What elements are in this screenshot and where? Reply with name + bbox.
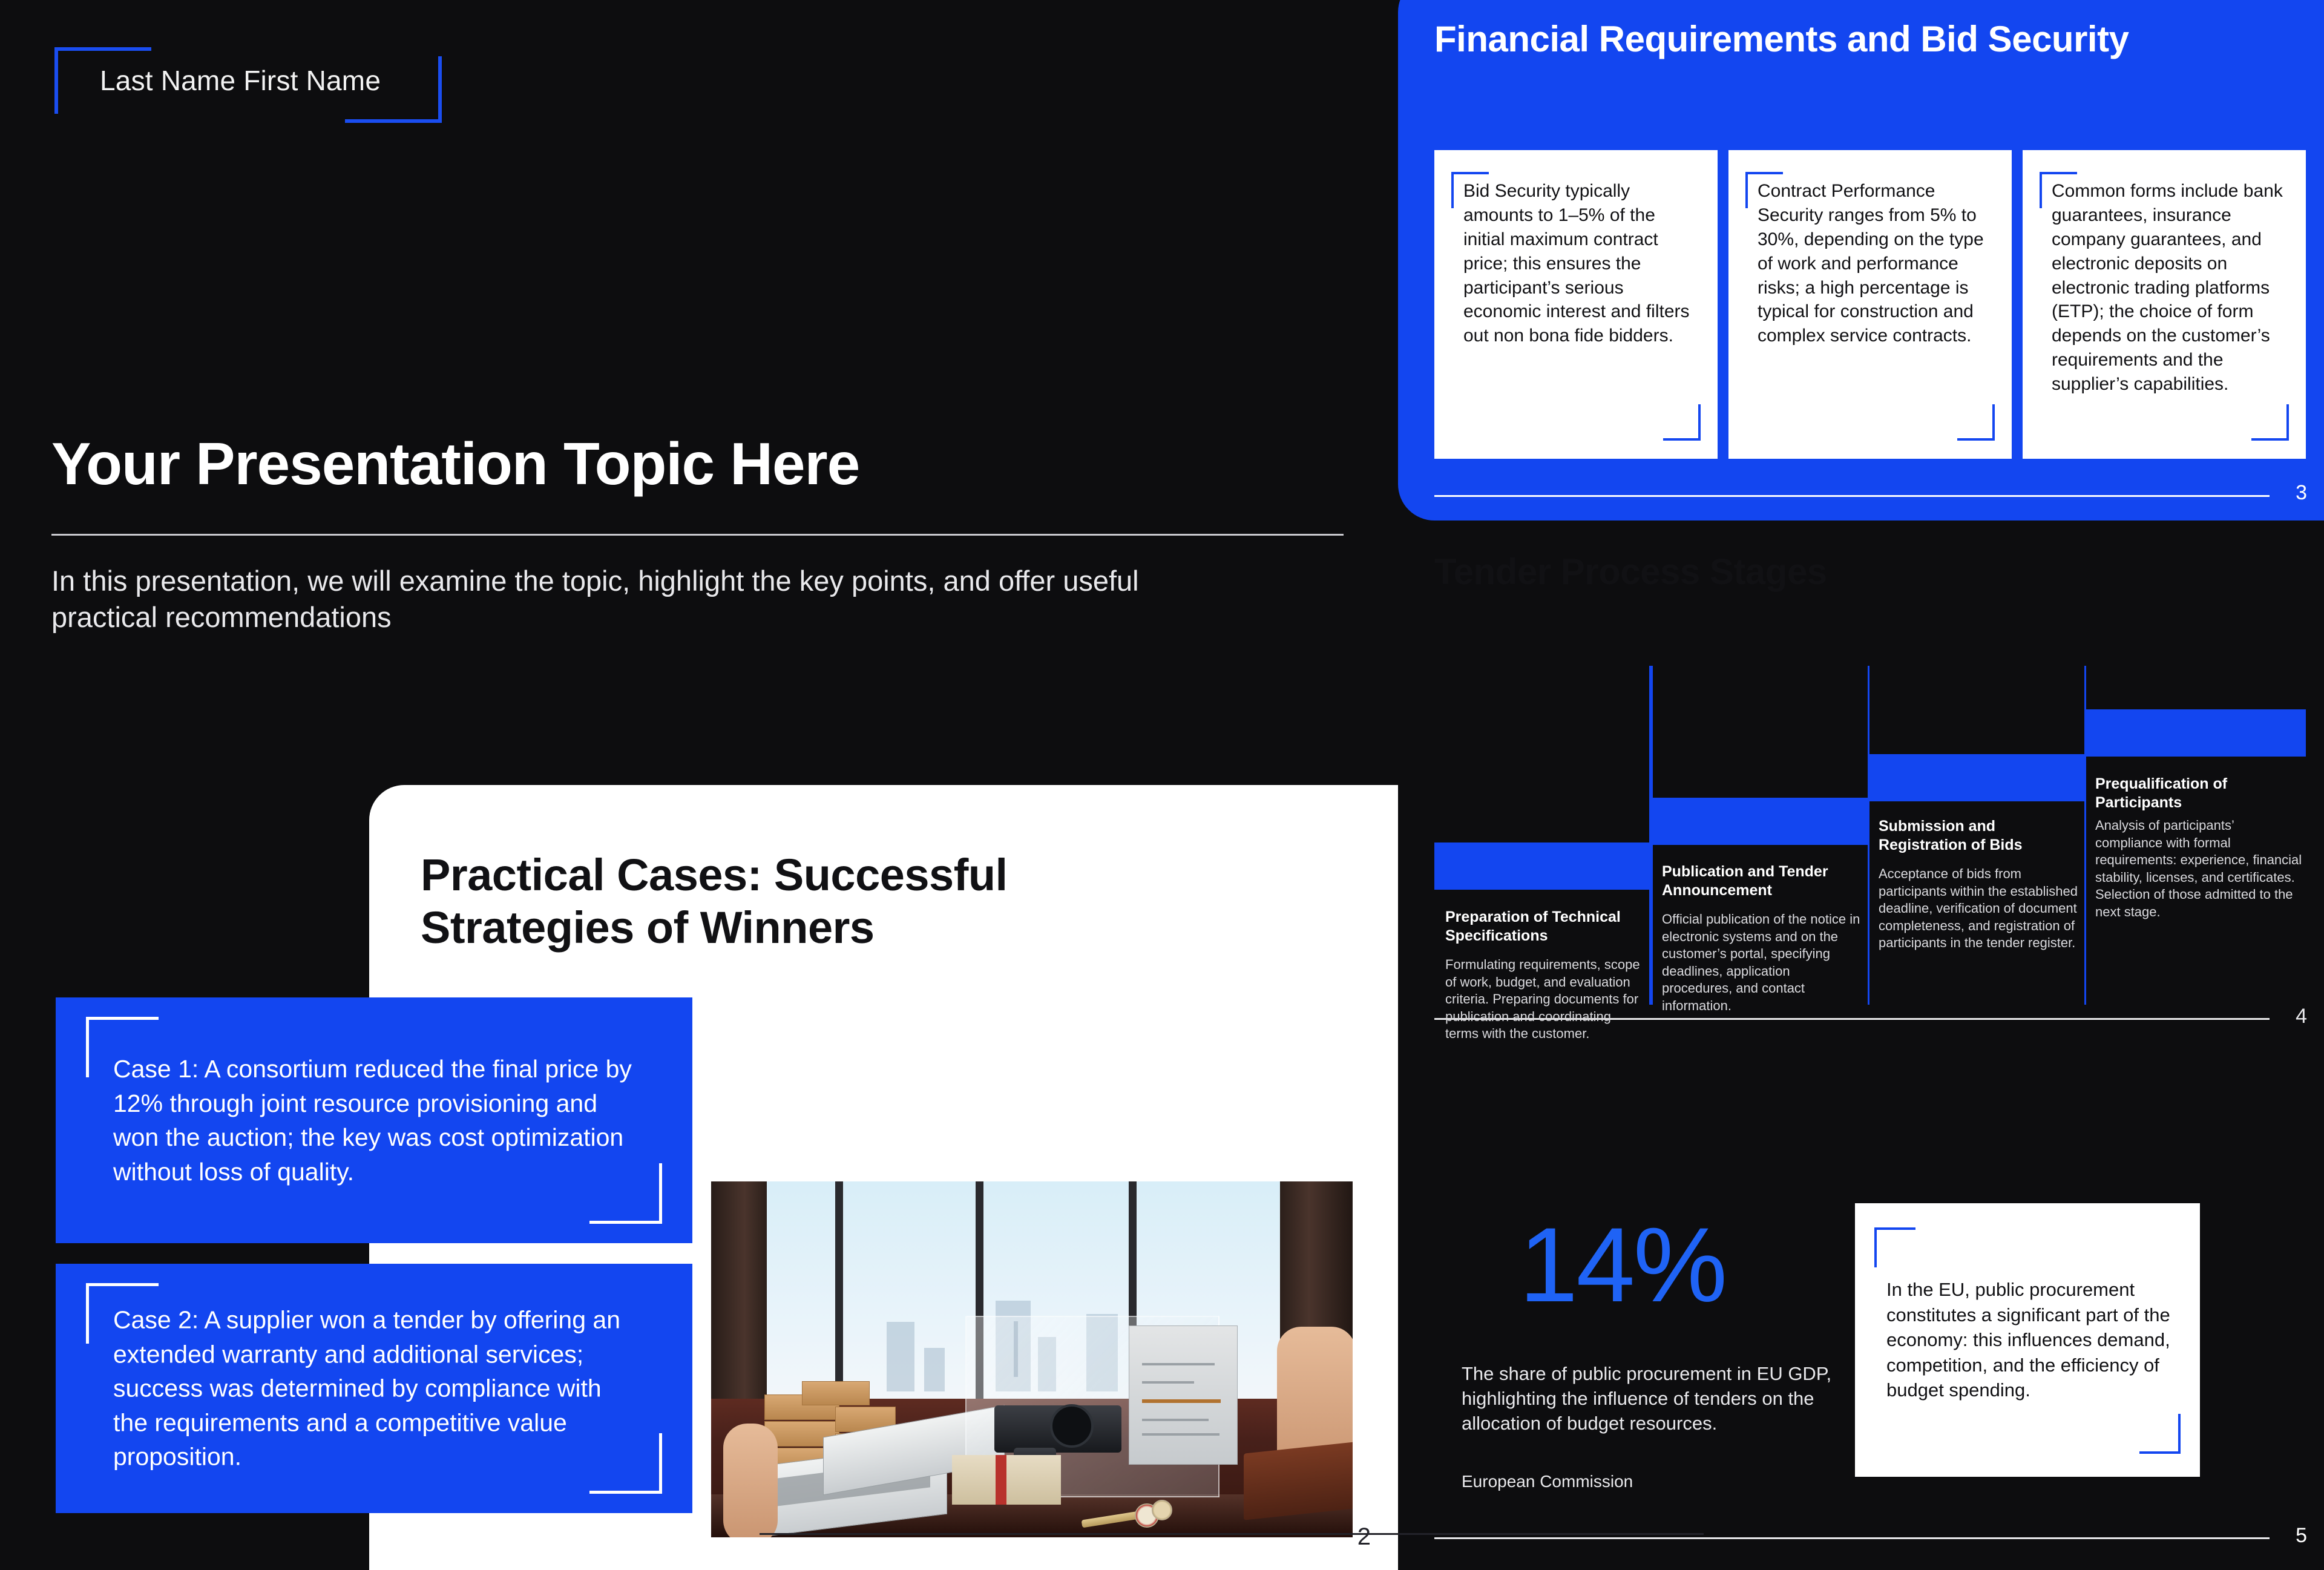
corner-bracket-bottom-icon <box>589 1221 662 1224</box>
corner-bracket-bottom-icon <box>1663 438 1701 441</box>
case-text: Case 1: A consortium reduced the final p… <box>113 1052 638 1189</box>
stage-column-1: Preparation of Technical Specifications … <box>1434 666 1651 1005</box>
presentation-overview: Last Name First Name Your Presentation T… <box>0 0 2324 1570</box>
stage-title: Publication and Tender Announcement <box>1662 862 1856 901</box>
stage-divider <box>1651 666 1653 1005</box>
financial-card-2: Contract Performance Security ranges fro… <box>1728 150 2012 459</box>
corner-bracket-top-icon <box>1451 172 1489 174</box>
financial-card-1: Bid Security typically amounts to 1–5% o… <box>1434 150 1718 459</box>
stage-column-4: Prequalification of Participants Analysi… <box>2084 666 2306 1005</box>
corner-bracket-left-icon <box>2040 172 2042 208</box>
case-text: Case 2: A supplier won a tender by offer… <box>113 1303 638 1474</box>
title-divider <box>51 534 1344 536</box>
corner-bracket-right-icon <box>659 1163 662 1224</box>
stage-body: Analysis of participants’ compliance wit… <box>2095 817 2304 921</box>
stage-column-3: Submission and Registration of Bids Acce… <box>1868 666 2084 1005</box>
corner-bracket-left-icon <box>1745 172 1748 208</box>
stage-title: Submission and Registration of Bids <box>1879 817 2072 855</box>
practical-cases-title: Practical Cases: Successful Strategies o… <box>421 849 1207 954</box>
statistic-value: 14% <box>1519 1204 1725 1326</box>
corner-bracket-bottom-icon <box>1957 438 1995 441</box>
statistic-callout-card: In the EU, public procurement constitute… <box>1855 1203 2200 1477</box>
stage-title: Preparation of Technical Specifications <box>1445 908 1639 946</box>
corner-bracket-right-icon <box>2286 404 2289 441</box>
slide-number: 4 <box>2296 1005 2307 1028</box>
stage-step-bar <box>1651 798 1868 845</box>
corner-bracket-left-icon <box>1451 172 1454 208</box>
cover-subtitle: In this presentation, we will examine th… <box>51 563 1159 636</box>
statistic-source: European Commission <box>1462 1472 1633 1491</box>
author-badge: Last Name First Name <box>54 47 442 123</box>
corner-bracket-top-icon <box>1874 1227 1915 1230</box>
slide-number: 2 <box>1357 1523 1371 1551</box>
stage-divider <box>2084 666 2086 1005</box>
corner-bracket-top-icon <box>86 1017 159 1020</box>
slide-footer-rule <box>1434 495 2270 497</box>
corner-bracket-bottom-icon <box>345 119 442 123</box>
stage-title: Prequalification of Participants <box>2095 775 2301 813</box>
corner-bracket-right-icon <box>659 1433 662 1494</box>
stage-divider <box>1868 666 1869 1005</box>
statistic-description: The share of public procurement in EU GD… <box>1462 1362 1837 1436</box>
corner-bracket-top-icon <box>1745 172 1783 174</box>
financial-card-3: Common forms include bank guarantees, in… <box>2023 150 2306 459</box>
corner-bracket-bottom-icon <box>2139 1451 2181 1454</box>
stage-column-2: Publication and Tender Announcement Offi… <box>1651 666 1868 1005</box>
corner-bracket-bottom-icon <box>2251 438 2289 441</box>
financial-requirement-cards: Bid Security typically amounts to 1–5% o… <box>1434 150 2306 459</box>
page-title: Your Presentation Topic Here <box>51 430 859 498</box>
corner-bracket-right-icon <box>438 56 442 123</box>
corner-bracket-left-icon <box>86 1283 89 1344</box>
corner-bracket-right-icon <box>2178 1414 2181 1454</box>
author-name: Last Name First Name <box>100 64 381 97</box>
financial-card-text: Contract Performance Security ranges fro… <box>1758 179 1990 348</box>
financial-card-text: Common forms include bank guarantees, in… <box>2052 179 2284 396</box>
corner-bracket-top-icon <box>54 47 151 51</box>
cover-slide: Last Name First Name Your Presentation T… <box>0 0 1398 1570</box>
statistic-callout-text: In the EU, public procurement constitute… <box>1886 1277 2175 1403</box>
stage-step-bar <box>2084 709 2306 757</box>
tender-stages-chart: Preparation of Technical Specifications … <box>1434 666 2306 1005</box>
slide-number: 3 <box>2296 481 2307 505</box>
corner-bracket-left-icon <box>86 1017 89 1077</box>
slide-number: 5 <box>2296 1524 2307 1548</box>
stage-body: Official publication of the notice in el… <box>1662 911 1862 1015</box>
office-desk-photo <box>711 1181 1353 1537</box>
case-callout-1: Case 1: A consortium reduced the final p… <box>56 997 692 1243</box>
slide-footer-rule <box>1434 1537 2270 1539</box>
corner-bracket-top-icon <box>86 1283 159 1286</box>
corner-bracket-left-icon <box>54 47 58 114</box>
stage-body: Formulating requirements, scope of work,… <box>1445 956 1645 1043</box>
corner-bracket-left-icon <box>1874 1227 1877 1267</box>
financial-card-text: Bid Security typically amounts to 1–5% o… <box>1463 179 1696 348</box>
corner-bracket-right-icon <box>1992 404 1995 441</box>
stage-body: Acceptance of bids from participants wit… <box>1879 865 2078 952</box>
corner-bracket-top-icon <box>2040 172 2077 174</box>
corner-bracket-bottom-icon <box>589 1491 662 1494</box>
corner-bracket-right-icon <box>1698 404 1701 441</box>
stage-step-bar <box>1434 842 1651 890</box>
tender-process-title: Tender Process Stages <box>1434 551 1827 593</box>
stage-step-bar <box>1868 754 2084 801</box>
financial-requirements-title: Financial Requirements and Bid Security <box>1434 18 2294 60</box>
case-callout-2: Case 2: A supplier won a tender by offer… <box>56 1264 692 1513</box>
